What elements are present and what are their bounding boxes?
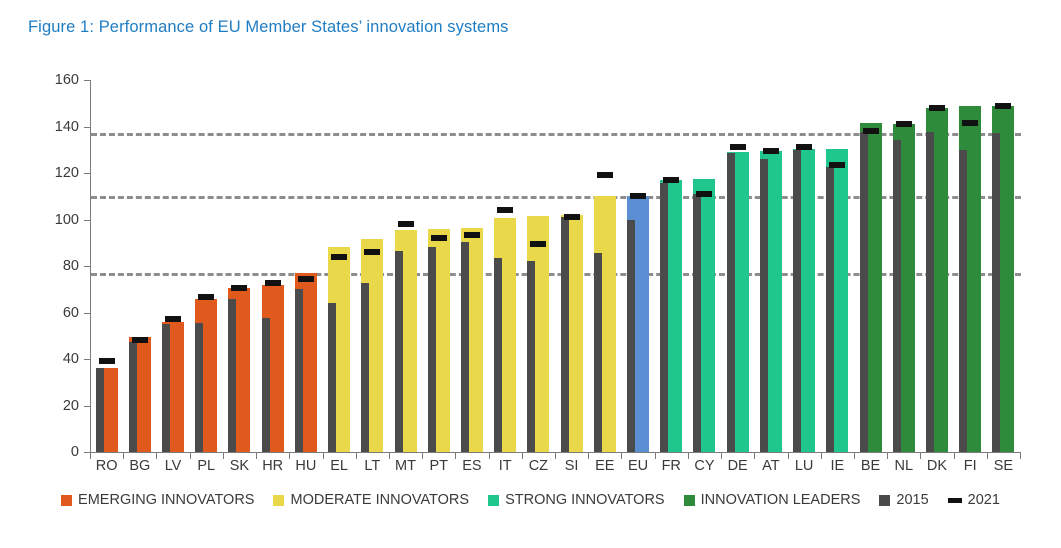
x-axis-tick bbox=[223, 452, 224, 459]
x-axis-tick bbox=[256, 452, 257, 459]
bar-2015 bbox=[262, 318, 270, 452]
bar-2015 bbox=[228, 299, 236, 452]
legend-dash-icon bbox=[948, 498, 962, 503]
marker-2021 bbox=[597, 172, 613, 178]
marker-2021 bbox=[896, 121, 912, 127]
bar-group bbox=[660, 80, 682, 452]
legend-swatch-icon bbox=[273, 495, 284, 506]
x-axis-tick bbox=[156, 452, 157, 459]
bar-2015 bbox=[428, 247, 436, 452]
marker-2021 bbox=[995, 103, 1011, 109]
bar-2015 bbox=[693, 194, 701, 452]
bar-2015 bbox=[361, 283, 369, 452]
x-axis-tick bbox=[289, 452, 290, 459]
bar-group bbox=[627, 80, 649, 452]
y-axis-tick-label: 0 bbox=[33, 444, 79, 460]
legend-swatch-icon bbox=[488, 495, 499, 506]
bar-group bbox=[96, 80, 118, 452]
bar-group bbox=[826, 80, 848, 452]
x-axis-tick bbox=[323, 452, 324, 459]
x-axis-label-lu: LU bbox=[788, 458, 821, 474]
x-axis-tick bbox=[123, 452, 124, 459]
x-axis-label-fi: FI bbox=[954, 458, 987, 474]
x-axis-tick bbox=[588, 452, 589, 459]
x-axis-tick bbox=[1020, 452, 1021, 459]
marker-2021 bbox=[530, 241, 546, 247]
y-axis-tick-label: 20 bbox=[33, 398, 79, 414]
y-axis-tick-label: 140 bbox=[33, 119, 79, 135]
bar-2015 bbox=[926, 132, 934, 452]
bar-2015 bbox=[594, 253, 602, 452]
x-axis-tick bbox=[489, 452, 490, 459]
chart-legend: EMERGING INNOVATORSMODERATE INNOVATORSST… bbox=[0, 492, 1061, 508]
marker-2021 bbox=[696, 191, 712, 197]
y-axis-tick-label: 80 bbox=[33, 258, 79, 274]
marker-2021 bbox=[962, 120, 978, 126]
bar-group bbox=[295, 80, 317, 452]
bar-group bbox=[793, 80, 815, 452]
x-axis-label-nl: NL bbox=[887, 458, 920, 474]
x-axis-tick bbox=[655, 452, 656, 459]
x-axis-tick bbox=[621, 452, 622, 459]
x-axis-label-hr: HR bbox=[256, 458, 289, 474]
x-axis-tick bbox=[754, 452, 755, 459]
marker-2021 bbox=[298, 276, 314, 282]
bar-group bbox=[428, 80, 450, 452]
legend-item[interactable]: STRONG INNOVATORS bbox=[488, 492, 665, 508]
x-axis-label-bg: BG bbox=[123, 458, 156, 474]
legend-item[interactable]: INNOVATION LEADERS bbox=[684, 492, 861, 508]
x-axis-tick bbox=[688, 452, 689, 459]
bar-group bbox=[959, 80, 981, 452]
bar-group bbox=[129, 80, 151, 452]
marker-2021 bbox=[497, 207, 513, 213]
y-axis-tick bbox=[84, 127, 91, 128]
bar-2015 bbox=[527, 261, 535, 452]
marker-2021 bbox=[99, 358, 115, 364]
x-axis-label-el: EL bbox=[323, 458, 356, 474]
bar-group bbox=[561, 80, 583, 452]
legend-label: STRONG INNOVATORS bbox=[505, 492, 665, 508]
marker-2021 bbox=[829, 162, 845, 168]
legend-swatch-icon bbox=[684, 495, 695, 506]
x-axis-tick bbox=[389, 452, 390, 459]
x-axis-label-sk: SK bbox=[223, 458, 256, 474]
x-axis-label-mt: MT bbox=[389, 458, 422, 474]
x-axis-tick bbox=[356, 452, 357, 459]
bar-2015 bbox=[328, 303, 336, 452]
x-axis-tick bbox=[987, 452, 988, 459]
bar-2015 bbox=[129, 342, 137, 452]
bar-2015 bbox=[295, 289, 303, 452]
marker-2021 bbox=[265, 280, 281, 286]
x-axis-label-lt: LT bbox=[356, 458, 389, 474]
bar-2015 bbox=[195, 323, 203, 452]
x-axis-tick bbox=[954, 452, 955, 459]
marker-2021 bbox=[165, 316, 181, 322]
legend-label: EMERGING INNOVATORS bbox=[78, 492, 254, 508]
x-axis-label-hu: HU bbox=[289, 458, 322, 474]
bar-group bbox=[228, 80, 250, 452]
marker-2021 bbox=[630, 193, 646, 199]
bar-2015 bbox=[395, 251, 403, 452]
x-axis-tick bbox=[422, 452, 423, 459]
y-axis-tick bbox=[84, 220, 91, 221]
bar-group bbox=[195, 80, 217, 452]
y-axis-tick-label: 120 bbox=[33, 165, 79, 181]
marker-2021 bbox=[863, 128, 879, 134]
x-axis-label-pt: PT bbox=[422, 458, 455, 474]
legend-swatch-icon bbox=[879, 495, 890, 506]
bar-group bbox=[527, 80, 549, 452]
x-axis-label-dk: DK bbox=[920, 458, 953, 474]
bar-2015 bbox=[793, 150, 801, 452]
bar-group bbox=[893, 80, 915, 452]
x-axis-label-pl: PL bbox=[190, 458, 223, 474]
marker-2021 bbox=[663, 177, 679, 183]
x-axis-label-it: IT bbox=[489, 458, 522, 474]
x-axis-label-cy: CY bbox=[688, 458, 721, 474]
bar-group bbox=[992, 80, 1014, 452]
legend-item[interactable]: EMERGING INNOVATORS bbox=[61, 492, 254, 508]
bar-2015 bbox=[860, 132, 868, 452]
y-axis-tick bbox=[84, 313, 91, 314]
bar-group bbox=[395, 80, 417, 452]
x-axis-tick bbox=[920, 452, 921, 459]
x-axis-tick bbox=[190, 452, 191, 459]
y-axis-tick-label: 60 bbox=[33, 305, 79, 321]
x-axis-tick bbox=[90, 452, 91, 459]
y-axis-tick-label: 160 bbox=[33, 72, 79, 88]
x-axis-tick bbox=[854, 452, 855, 459]
bar-group bbox=[262, 80, 284, 452]
y-axis-tick bbox=[84, 80, 91, 81]
marker-2021 bbox=[796, 144, 812, 150]
x-axis-label-eu: EU bbox=[621, 458, 654, 474]
x-axis-label-at: AT bbox=[754, 458, 787, 474]
x-axis-label-si: SI bbox=[555, 458, 588, 474]
bar-2015 bbox=[461, 242, 469, 452]
bar-group bbox=[860, 80, 882, 452]
bar-group bbox=[162, 80, 184, 452]
bar-2015 bbox=[727, 153, 735, 452]
bar-2015 bbox=[760, 159, 768, 452]
marker-2021 bbox=[431, 235, 447, 241]
legend-item[interactable]: MODERATE INNOVATORS bbox=[273, 492, 469, 508]
x-axis-label-se: SE bbox=[987, 458, 1020, 474]
bar-group bbox=[494, 80, 516, 452]
bar-group bbox=[926, 80, 948, 452]
x-axis-label-es: ES bbox=[455, 458, 488, 474]
legend-label: MODERATE INNOVATORS bbox=[290, 492, 469, 508]
bar-2015 bbox=[826, 167, 834, 452]
marker-2021 bbox=[198, 294, 214, 300]
bar-group bbox=[328, 80, 350, 452]
bar-group bbox=[461, 80, 483, 452]
chart-page: Figure 1: Performance of EU Member State… bbox=[0, 0, 1061, 548]
x-axis-label-ie: IE bbox=[821, 458, 854, 474]
marker-2021 bbox=[331, 254, 347, 260]
y-axis-tick bbox=[84, 173, 91, 174]
bar-group bbox=[693, 80, 715, 452]
x-axis-tick bbox=[522, 452, 523, 459]
bar-2015 bbox=[660, 183, 668, 452]
bar-2015 bbox=[494, 258, 502, 452]
y-axis-tick bbox=[84, 406, 91, 407]
page-title: Figure 1: Performance of EU Member State… bbox=[28, 18, 509, 37]
x-axis-label-fr: FR bbox=[655, 458, 688, 474]
x-axis-label-ro: RO bbox=[90, 458, 123, 474]
x-axis-label-be: BE bbox=[854, 458, 887, 474]
x-axis-label-lv: LV bbox=[156, 458, 189, 474]
marker-2021 bbox=[132, 337, 148, 343]
legend-item[interactable]: 2015 bbox=[879, 492, 928, 508]
legend-item[interactable]: 2021 bbox=[948, 492, 1000, 508]
marker-2021 bbox=[464, 232, 480, 238]
x-axis-tick bbox=[788, 452, 789, 459]
marker-2021 bbox=[231, 285, 247, 291]
y-axis-tick bbox=[84, 266, 91, 267]
x-axis-tick bbox=[555, 452, 556, 459]
x-axis-label-de: DE bbox=[721, 458, 754, 474]
x-axis-label-cz: CZ bbox=[522, 458, 555, 474]
marker-2021 bbox=[364, 249, 380, 255]
legend-label: 2015 bbox=[896, 492, 928, 508]
marker-2021 bbox=[929, 105, 945, 111]
y-axis-tick-label: 100 bbox=[33, 212, 79, 228]
x-axis-tick bbox=[721, 452, 722, 459]
bar-2015 bbox=[561, 217, 569, 452]
x-axis-label-ee: EE bbox=[588, 458, 621, 474]
x-axis-tick bbox=[821, 452, 822, 459]
bar-2015 bbox=[96, 368, 104, 452]
bar-group bbox=[361, 80, 383, 452]
legend-label: 2021 bbox=[968, 492, 1000, 508]
marker-2021 bbox=[763, 148, 779, 154]
bar-group bbox=[760, 80, 782, 452]
bar-group bbox=[594, 80, 616, 452]
marker-2021 bbox=[730, 144, 746, 150]
legend-swatch-icon bbox=[61, 495, 72, 506]
bar-2015 bbox=[162, 324, 170, 452]
legend-label: INNOVATION LEADERS bbox=[701, 492, 861, 508]
bar-2015 bbox=[992, 133, 1000, 452]
x-axis-tick bbox=[887, 452, 888, 459]
bar-2015 bbox=[893, 140, 901, 452]
bar-group bbox=[727, 80, 749, 452]
y-axis-tick bbox=[84, 359, 91, 360]
marker-2021 bbox=[398, 221, 414, 227]
x-axis-tick bbox=[455, 452, 456, 459]
marker-2021 bbox=[564, 214, 580, 220]
y-axis-tick-label: 40 bbox=[33, 351, 79, 367]
bar-2015 bbox=[627, 220, 635, 453]
bar-2015 bbox=[959, 150, 967, 452]
